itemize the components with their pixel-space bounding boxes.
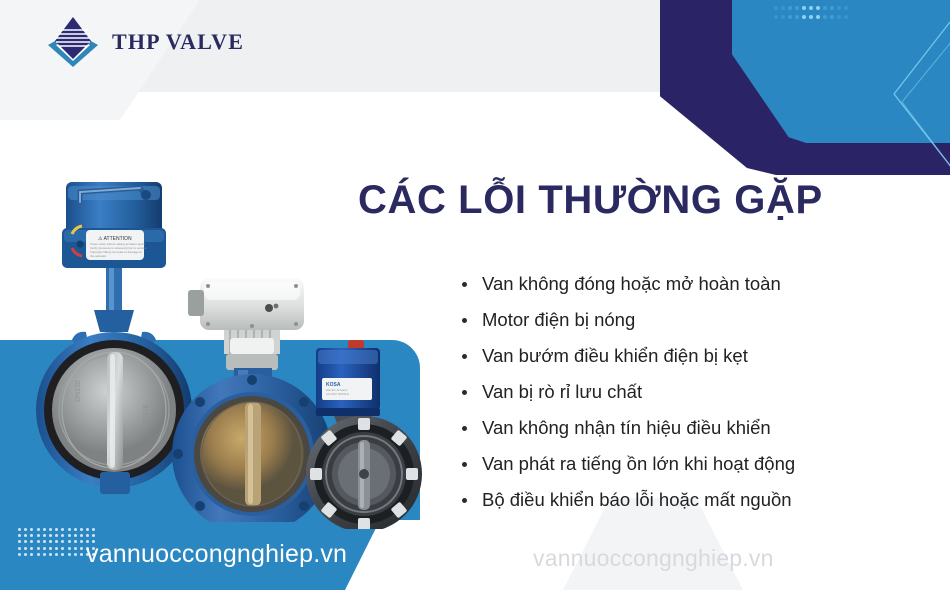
fault-list-item-label: Motor điện bị nóng <box>482 309 635 330</box>
svg-text:the actuator: the actuator <box>90 254 106 258</box>
bullet-dot-icon <box>462 462 467 467</box>
bullet-dot-icon <box>462 354 467 359</box>
fault-list-item-label: Van bướm điều khiển điện bị kẹt <box>482 345 748 366</box>
brand-logo: THP VALVE <box>44 14 244 70</box>
poster-canvas: THP VALVE <box>0 0 950 600</box>
fault-list-item-label: Van không đóng hoặc mở hoàn toàn <box>482 273 781 294</box>
product-image-lug-type-electric-butterfly-valve: KOSA Electric Actuator AC220V 50/60Hz <box>296 334 436 529</box>
fault-list-item-label: Van phát ra tiếng ồn lớn khi hoạt động <box>482 453 795 474</box>
bullet-dot-icon <box>462 282 467 287</box>
thp-diamond-logo-icon <box>44 15 102 69</box>
fault-list-item-label: Van bị rò rỉ lưu chất <box>482 381 642 402</box>
fault-list-item-label: Bộ điều khiển báo lỗi hoặc mất nguồn <box>482 489 792 510</box>
top-right-dot-pattern <box>774 6 848 26</box>
site-url-label: vannuoccongnghiep.vn <box>86 540 347 569</box>
fault-list-item: Van bị rò rỉ lưu chất <box>460 374 930 410</box>
page-title: CÁC LỖI THƯỜNG GẶP <box>358 178 823 223</box>
watermark-label: vannuoccongnghiep.vn <box>533 545 774 572</box>
fault-list-item-label: Van không nhận tín hiệu điều khiển <box>482 417 771 438</box>
bullet-dot-icon <box>462 390 467 395</box>
fault-list-item: Van bướm điều khiển điện bị kẹt <box>460 338 930 374</box>
common-faults-list: Van không đóng hoặc mở hoàn toànMotor đi… <box>460 266 930 518</box>
fault-list-item: Van không đóng hoặc mở hoàn toàn <box>460 266 930 302</box>
fault-list-item: Motor điện bị nóng <box>460 302 930 338</box>
svg-text:PN16: PN16 <box>143 404 150 422</box>
bullet-dot-icon <box>462 318 467 323</box>
bullet-dot-icon <box>462 498 467 503</box>
svg-text:DN150: DN150 <box>75 380 82 402</box>
fault-list-item: Van phát ra tiếng ồn lớn khi hoạt động <box>460 446 930 482</box>
fault-list-item: Bộ điều khiển báo lỗi hoặc mất nguồn <box>460 482 930 518</box>
bullet-dot-icon <box>462 426 467 431</box>
svg-text:AC220V 50/60Hz: AC220V 50/60Hz <box>326 392 350 396</box>
brand-name: THP VALVE <box>112 29 244 55</box>
fault-list-item: Van không nhận tín hiệu điều khiển <box>460 410 930 446</box>
